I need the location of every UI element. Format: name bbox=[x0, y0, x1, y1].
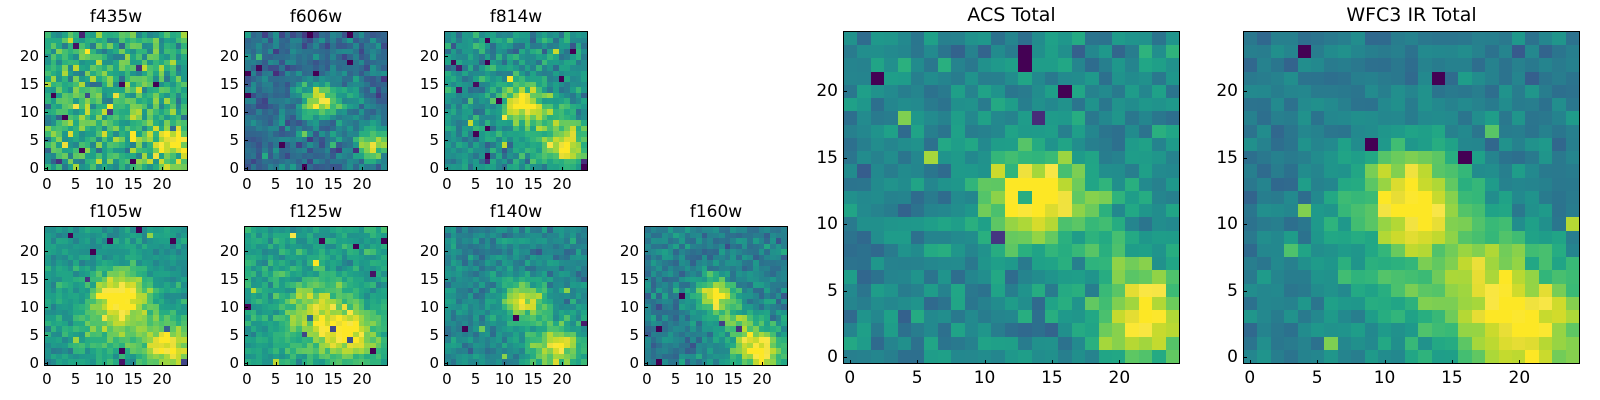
panel-title-wfc3-ir-total: WFC3 IR Total bbox=[1243, 4, 1580, 26]
heatmap-axes-f435w bbox=[44, 31, 188, 171]
y-tickmark bbox=[444, 168, 448, 169]
x-tickmark bbox=[362, 362, 363, 366]
heatmap-axes-wfc3-ir-total bbox=[1243, 31, 1580, 364]
x-tick-label: 5 bbox=[1312, 368, 1323, 388]
x-tick-label: 20 bbox=[153, 370, 172, 388]
x-tick-label: 20 bbox=[153, 175, 172, 193]
y-tick-label: 10 bbox=[620, 298, 639, 316]
y-tick-label: 5 bbox=[29, 131, 39, 149]
y-tickmark bbox=[644, 279, 648, 280]
y-tickmark bbox=[843, 357, 847, 358]
panel-f814w: f814w0510152005101520 bbox=[444, 7, 588, 197]
heatmap-axes-f140w bbox=[444, 226, 588, 366]
x-tick-label: 15 bbox=[124, 370, 143, 388]
y-tickmark bbox=[444, 56, 448, 57]
y-tick-label: 20 bbox=[220, 242, 239, 260]
x-tick-label: 5 bbox=[671, 370, 681, 388]
heatmap-image-f814w bbox=[445, 32, 587, 170]
x-tick-label: 20 bbox=[553, 370, 572, 388]
y-tick-label: 20 bbox=[20, 47, 39, 65]
x-tickmark bbox=[985, 360, 986, 364]
x-tick-label: 0 bbox=[844, 368, 855, 388]
y-tickmark bbox=[843, 91, 847, 92]
panel-f140w: f140w0510152005101520 bbox=[444, 202, 588, 392]
x-tickmark bbox=[533, 362, 534, 366]
x-tickmark bbox=[304, 362, 305, 366]
y-tick-label: 5 bbox=[229, 326, 239, 344]
y-tick-label: 0 bbox=[229, 354, 239, 372]
x-tick-label: 0 bbox=[442, 370, 452, 388]
x-tickmark bbox=[104, 362, 105, 366]
x-tickmark bbox=[276, 167, 277, 171]
x-tick-label: 0 bbox=[42, 175, 52, 193]
x-tick-label: 0 bbox=[242, 175, 252, 193]
y-tick-label: 10 bbox=[220, 298, 239, 316]
y-tickmark bbox=[444, 140, 448, 141]
x-tickmark bbox=[917, 360, 918, 364]
y-tick-label: 5 bbox=[429, 131, 439, 149]
y-tickmark bbox=[244, 84, 248, 85]
x-tickmark bbox=[733, 362, 734, 366]
y-tick-label: 0 bbox=[429, 354, 439, 372]
y-tick-label: 15 bbox=[620, 270, 639, 288]
y-tickmark bbox=[44, 307, 48, 308]
heatmap-axes-f125w bbox=[244, 226, 388, 366]
y-tick-label: 5 bbox=[629, 326, 639, 344]
y-tick-label: 20 bbox=[816, 81, 838, 101]
x-tick-label: 10 bbox=[495, 175, 514, 193]
y-tick-label: 0 bbox=[827, 347, 838, 367]
y-tick-label: 5 bbox=[1227, 281, 1238, 301]
y-tickmark bbox=[1243, 357, 1247, 358]
x-tickmark bbox=[1519, 360, 1520, 364]
x-tickmark bbox=[676, 362, 677, 366]
x-tick-label: 15 bbox=[324, 175, 343, 193]
y-tickmark bbox=[244, 363, 248, 364]
y-tickmark bbox=[444, 363, 448, 364]
y-tick-label: 20 bbox=[220, 47, 239, 65]
heatmap-image-f435w bbox=[45, 32, 187, 170]
x-tick-label: 10 bbox=[295, 370, 314, 388]
x-tick-label: 5 bbox=[471, 370, 481, 388]
x-tick-label: 10 bbox=[495, 370, 514, 388]
y-tickmark bbox=[644, 363, 648, 364]
y-tick-label: 10 bbox=[20, 298, 39, 316]
y-tick-label: 10 bbox=[420, 298, 439, 316]
x-tick-label: 5 bbox=[271, 175, 281, 193]
y-tickmark bbox=[444, 279, 448, 280]
x-tick-label: 10 bbox=[95, 175, 114, 193]
y-tick-label: 10 bbox=[420, 103, 439, 121]
y-tick-label: 5 bbox=[29, 326, 39, 344]
x-tickmark bbox=[476, 167, 477, 171]
y-tickmark bbox=[44, 251, 48, 252]
y-tickmark bbox=[244, 251, 248, 252]
panel-title-f814w: f814w bbox=[444, 7, 588, 27]
x-tickmark bbox=[133, 362, 134, 366]
y-tickmark bbox=[843, 224, 847, 225]
x-tick-label: 10 bbox=[695, 370, 714, 388]
y-tickmark bbox=[44, 335, 48, 336]
x-tickmark bbox=[76, 362, 77, 366]
y-tickmark bbox=[44, 279, 48, 280]
panel-title-f140w: f140w bbox=[444, 202, 588, 222]
x-tickmark bbox=[1452, 360, 1453, 364]
y-tick-label: 0 bbox=[429, 159, 439, 177]
x-tickmark bbox=[276, 362, 277, 366]
y-tick-label: 15 bbox=[1216, 148, 1238, 168]
y-tickmark bbox=[244, 307, 248, 308]
y-tick-label: 15 bbox=[220, 270, 239, 288]
x-tickmark bbox=[704, 362, 705, 366]
x-tickmark bbox=[1052, 360, 1053, 364]
x-tick-label: 20 bbox=[553, 175, 572, 193]
x-tick-label: 5 bbox=[271, 370, 281, 388]
y-tick-label: 5 bbox=[827, 281, 838, 301]
x-tick-label: 10 bbox=[974, 368, 996, 388]
y-tick-label: 0 bbox=[229, 159, 239, 177]
x-tickmark bbox=[562, 167, 563, 171]
y-tickmark bbox=[444, 335, 448, 336]
x-tickmark bbox=[333, 167, 334, 171]
y-tickmark bbox=[444, 84, 448, 85]
y-tickmark bbox=[244, 335, 248, 336]
y-tickmark bbox=[44, 168, 48, 169]
x-tickmark bbox=[504, 362, 505, 366]
x-tickmark bbox=[504, 167, 505, 171]
y-tickmark bbox=[843, 291, 847, 292]
panel-title-f606w: f606w bbox=[244, 7, 388, 27]
y-tick-label: 15 bbox=[220, 75, 239, 93]
panel-title-f105w: f105w bbox=[44, 202, 188, 222]
x-tick-label: 0 bbox=[242, 370, 252, 388]
y-tickmark bbox=[244, 112, 248, 113]
x-tick-label: 20 bbox=[353, 175, 372, 193]
y-tick-label: 10 bbox=[1216, 214, 1238, 234]
x-tick-label: 5 bbox=[71, 370, 81, 388]
heatmap-image-f160w bbox=[645, 227, 787, 365]
y-tickmark bbox=[644, 335, 648, 336]
panel-title-f125w: f125w bbox=[244, 202, 388, 222]
y-tick-label: 20 bbox=[20, 242, 39, 260]
y-tickmark bbox=[1243, 224, 1247, 225]
x-tick-label: 20 bbox=[753, 370, 772, 388]
x-tick-label: 10 bbox=[295, 175, 314, 193]
y-tick-label: 20 bbox=[420, 47, 439, 65]
x-tick-label: 10 bbox=[1374, 368, 1396, 388]
y-tick-label: 20 bbox=[1216, 81, 1238, 101]
panel-wfc3-ir-total: WFC3 IR Total0510152005101520 bbox=[1243, 4, 1580, 390]
y-tick-label: 10 bbox=[816, 214, 838, 234]
y-tick-label: 0 bbox=[1227, 347, 1238, 367]
x-tick-label: 15 bbox=[524, 370, 543, 388]
x-tickmark bbox=[76, 167, 77, 171]
y-tick-label: 10 bbox=[220, 103, 239, 121]
x-tickmark bbox=[304, 167, 305, 171]
heatmap-image-acs-total bbox=[844, 32, 1179, 363]
y-tick-label: 20 bbox=[420, 242, 439, 260]
heatmap-axes-f105w bbox=[44, 226, 188, 366]
y-tickmark bbox=[44, 140, 48, 141]
x-tickmark bbox=[162, 167, 163, 171]
y-tick-label: 0 bbox=[29, 354, 39, 372]
panel-f125w: f125w0510152005101520 bbox=[244, 202, 388, 392]
x-tickmark bbox=[476, 362, 477, 366]
panel-title-f160w: f160w bbox=[644, 202, 788, 222]
y-tickmark bbox=[44, 363, 48, 364]
y-tickmark bbox=[644, 307, 648, 308]
panel-f435w: f435w0510152005101520 bbox=[44, 7, 188, 197]
x-tick-label: 0 bbox=[42, 370, 52, 388]
x-tickmark bbox=[762, 362, 763, 366]
y-tickmark bbox=[644, 251, 648, 252]
y-tick-label: 5 bbox=[229, 131, 239, 149]
x-tickmark bbox=[850, 360, 851, 364]
y-tick-label: 15 bbox=[816, 148, 838, 168]
x-tick-label: 0 bbox=[642, 370, 652, 388]
y-tickmark bbox=[1243, 158, 1247, 159]
panel-title-acs-total: ACS Total bbox=[843, 4, 1180, 26]
x-tick-label: 15 bbox=[724, 370, 743, 388]
heatmap-axes-f160w bbox=[644, 226, 788, 366]
heatmap-image-wfc3-ir-total bbox=[1244, 32, 1579, 363]
y-tick-label: 15 bbox=[20, 75, 39, 93]
y-tickmark bbox=[244, 279, 248, 280]
y-tickmark bbox=[44, 112, 48, 113]
x-tick-label: 0 bbox=[442, 175, 452, 193]
x-tickmark bbox=[104, 167, 105, 171]
y-tickmark bbox=[444, 307, 448, 308]
x-tick-label: 0 bbox=[1244, 368, 1255, 388]
panel-f606w: f606w0510152005101520 bbox=[244, 7, 388, 197]
x-tickmark bbox=[333, 362, 334, 366]
heatmap-axes-acs-total bbox=[843, 31, 1180, 364]
y-tick-label: 15 bbox=[420, 270, 439, 288]
x-tick-label: 15 bbox=[124, 175, 143, 193]
x-tick-label: 5 bbox=[912, 368, 923, 388]
x-tick-label: 5 bbox=[71, 175, 81, 193]
x-tickmark bbox=[1119, 360, 1120, 364]
y-tick-label: 5 bbox=[429, 326, 439, 344]
y-tickmark bbox=[843, 158, 847, 159]
y-tickmark bbox=[444, 251, 448, 252]
heatmap-image-f105w bbox=[45, 227, 187, 365]
heatmap-axes-f606w bbox=[244, 31, 388, 171]
y-tickmark bbox=[1243, 91, 1247, 92]
y-tick-label: 10 bbox=[20, 103, 39, 121]
y-tickmark bbox=[444, 112, 448, 113]
y-tick-label: 15 bbox=[20, 270, 39, 288]
x-tick-label: 5 bbox=[471, 175, 481, 193]
x-tick-label: 15 bbox=[1441, 368, 1463, 388]
heatmap-image-f125w bbox=[245, 227, 387, 365]
y-tickmark bbox=[44, 84, 48, 85]
y-tickmark bbox=[244, 140, 248, 141]
x-tickmark bbox=[162, 362, 163, 366]
x-tickmark bbox=[562, 362, 563, 366]
panel-acs-total: ACS Total0510152005101520 bbox=[843, 4, 1180, 390]
y-tickmark bbox=[44, 56, 48, 57]
heatmap-image-f606w bbox=[245, 32, 387, 170]
x-tickmark bbox=[133, 167, 134, 171]
x-tick-label: 20 bbox=[1109, 368, 1131, 388]
x-tick-label: 20 bbox=[1509, 368, 1531, 388]
y-tick-label: 0 bbox=[629, 354, 639, 372]
x-tickmark bbox=[1250, 360, 1251, 364]
panel-f105w: f105w0510152005101520 bbox=[44, 202, 188, 392]
y-tickmark bbox=[244, 168, 248, 169]
x-tickmark bbox=[1317, 360, 1318, 364]
heatmap-axes-f814w bbox=[444, 31, 588, 171]
y-tick-label: 15 bbox=[420, 75, 439, 93]
y-tickmark bbox=[244, 56, 248, 57]
panel-f160w: f160w0510152005101520 bbox=[644, 202, 788, 392]
x-tickmark bbox=[362, 167, 363, 171]
x-tickmark bbox=[533, 167, 534, 171]
heatmap-image-f140w bbox=[445, 227, 587, 365]
y-tick-label: 0 bbox=[29, 159, 39, 177]
x-tick-label: 15 bbox=[324, 370, 343, 388]
x-tick-label: 10 bbox=[95, 370, 114, 388]
y-tick-label: 20 bbox=[620, 242, 639, 260]
x-tick-label: 15 bbox=[524, 175, 543, 193]
x-tick-label: 20 bbox=[353, 370, 372, 388]
x-tickmark bbox=[1385, 360, 1386, 364]
x-tick-label: 15 bbox=[1041, 368, 1063, 388]
figure-canvas: f435w0510152005101520f606w05101520051015… bbox=[0, 0, 1600, 400]
panel-title-f435w: f435w bbox=[44, 7, 188, 27]
y-tickmark bbox=[1243, 291, 1247, 292]
